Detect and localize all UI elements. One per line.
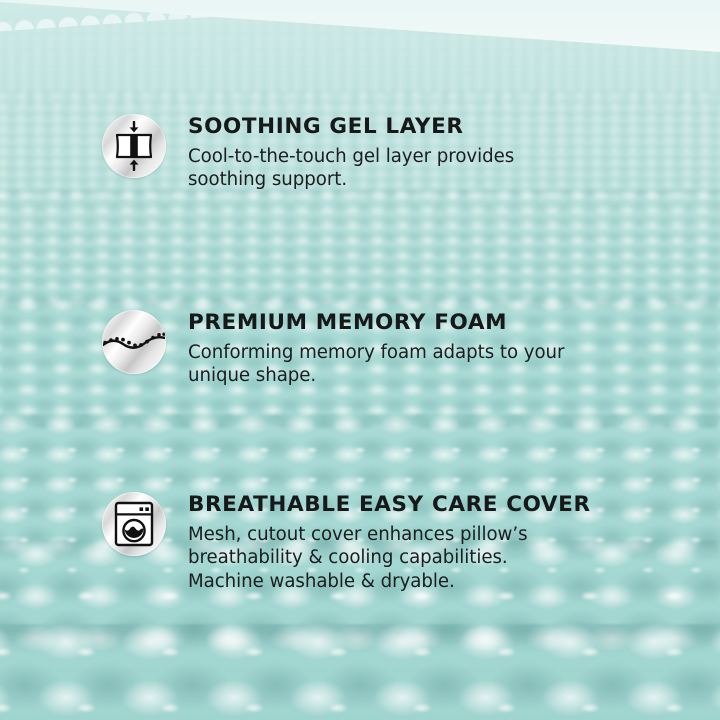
description-line: Cool-to-the-touch gel layer provides: [188, 145, 712, 169]
feature-description: Conforming memory foam adapts to your un…: [188, 341, 712, 388]
feature-title: SOOTHING GEL LAYER: [188, 116, 712, 139]
feature-text-block: BREATHABLE EASY CARE COVER Mesh, cutout …: [188, 492, 712, 594]
gel-layer-compression-icon: [102, 114, 166, 178]
feature-title: BREATHABLE EASY CARE COVER: [188, 494, 712, 517]
feature-title: PREMIUM MEMORY FOAM: [188, 312, 712, 335]
washing-machine-icon: [102, 492, 166, 556]
contour-wave-foam-icon: [102, 310, 166, 374]
product-feature-infographic: SOOTHING GEL LAYER Cool-to-the-touch gel…: [0, 0, 720, 720]
feature-description: Cool-to-the-touch gel layer provides soo…: [188, 145, 712, 192]
feature-description: Mesh, cutout cover enhances pillow’s bre…: [188, 523, 712, 594]
description-line: Machine washable & dryable.: [188, 570, 712, 594]
feature-soothing-gel-layer: SOOTHING GEL LAYER Cool-to-the-touch gel…: [102, 114, 712, 192]
description-line: Mesh, cutout cover enhances pillow’s: [188, 523, 712, 547]
feature-breathable-easy-care-cover: BREATHABLE EASY CARE COVER Mesh, cutout …: [102, 492, 712, 594]
description-line: Conforming memory foam adapts to your: [188, 341, 712, 365]
description-line: breathability & cooling capabilities.: [188, 546, 712, 570]
feature-text-block: SOOTHING GEL LAYER Cool-to-the-touch gel…: [188, 114, 712, 192]
description-line: soothing support.: [188, 168, 712, 192]
feature-premium-memory-foam: PREMIUM MEMORY FOAM Conforming memory fo…: [102, 310, 712, 388]
feature-text-block: PREMIUM MEMORY FOAM Conforming memory fo…: [188, 310, 712, 388]
bead-row-3: [0, 190, 720, 310]
description-line: unique shape.: [188, 364, 712, 388]
